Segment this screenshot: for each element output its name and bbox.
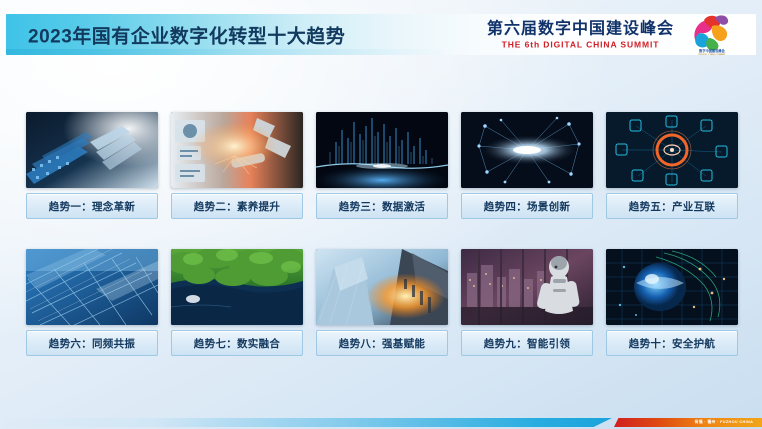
- summit-name-cn: 第六届数字中国建设峰会: [487, 21, 674, 37]
- logo-caption-en: DIGITAL CHINA SUMMIT: [684, 53, 739, 55]
- logo-caption-cn: 数字中国建设峰会: [699, 49, 725, 53]
- trend-card-10[interactable]: 趋势十：安全护航: [606, 249, 738, 356]
- footer-bar: 有福 · 福州 · FUZHOU CHINA: [0, 408, 762, 429]
- trend-card-7[interactable]: 趋势七：数实融合: [171, 249, 303, 356]
- solar-panel-array-image: [26, 249, 158, 325]
- summit-name-en: THE 6th DIGITAL CHINA SUMMIT: [487, 40, 674, 49]
- header-band: 2023年国有企业数字化转型十大趋势 第六届数字中国建设峰会 THE 6th D…: [6, 14, 756, 55]
- trend-caption: 趋势五：产业互联: [606, 193, 738, 219]
- industrial-iot-network-image: [606, 112, 738, 188]
- trend-caption: 趋势八：强基赋能: [316, 330, 448, 356]
- trend-card-1[interactable]: 趋势一：理念革新: [26, 112, 158, 219]
- robotic-arm-control-panel-image: [171, 112, 303, 188]
- footer-red-accent: 有福 · 福州 · FUZHOU CHINA: [614, 418, 762, 427]
- trend-caption: 趋势六：同频共振: [26, 330, 158, 356]
- skyscraper-sunrise-image: [316, 249, 448, 325]
- trend-card-grid: 趋势一：理念革新: [26, 112, 736, 356]
- trend-card-4[interactable]: 趋势四：场景创新: [461, 112, 593, 219]
- blue-data-waveform-image: [316, 112, 448, 188]
- glowing-network-burst-image: [461, 112, 593, 188]
- trend-caption: 趋势三：数据激活: [316, 193, 448, 219]
- trend-caption: 趋势十：安全护航: [606, 330, 738, 356]
- trend-caption: 趋势七：数实融合: [171, 330, 303, 356]
- trend-card-8[interactable]: 趋势八：强基赋能: [316, 249, 448, 356]
- green-forest-river-image: [171, 249, 303, 325]
- trend-caption: 趋势九：智能引领: [461, 330, 593, 356]
- summit-logo-icon: 数字中国建设峰会 DIGITAL CHINA SUMMIT: [682, 14, 742, 55]
- footer-text: 有福 · 福州 · FUZHOU CHINA: [695, 420, 754, 425]
- trend-caption: 趋势四：场景创新: [461, 193, 593, 219]
- blue-data-sphere-shield-image: [606, 249, 738, 325]
- trend-card-3[interactable]: 趋势三：数据激活: [316, 112, 448, 219]
- footer-blue-accent: [0, 418, 612, 427]
- trend-card-6[interactable]: 趋势六：同频共振: [26, 249, 158, 356]
- trend-caption: 趋势二：素养提升: [171, 193, 303, 219]
- humanoid-robot-cityscape-image: [461, 249, 593, 325]
- trend-card-5[interactable]: 趋势五：产业互联: [606, 112, 738, 219]
- page-title: 2023年国有企业数字化转型十大趋势: [28, 21, 345, 48]
- trend-card-9[interactable]: 趋势九：智能引领: [461, 249, 593, 356]
- trend-card-2[interactable]: 趋势二：素养提升: [171, 112, 303, 219]
- trend-row-1: 趋势一：理念革新: [26, 112, 736, 219]
- logo-caption: 数字中国建设峰会 DIGITAL CHINA SUMMIT: [684, 48, 739, 55]
- slide-canvas: 2023年国有企业数字化转型十大趋势 第六届数字中国建设峰会 THE 6th D…: [0, 0, 762, 429]
- trend-row-2: 趋势六：同频共振: [26, 249, 736, 356]
- summit-branding: 第六届数字中国建设峰会 THE 6th DIGITAL CHINA SUMMIT: [487, 21, 674, 49]
- digital-staircase-keyboard-image: [26, 112, 158, 188]
- trend-caption: 趋势一：理念革新: [26, 193, 158, 219]
